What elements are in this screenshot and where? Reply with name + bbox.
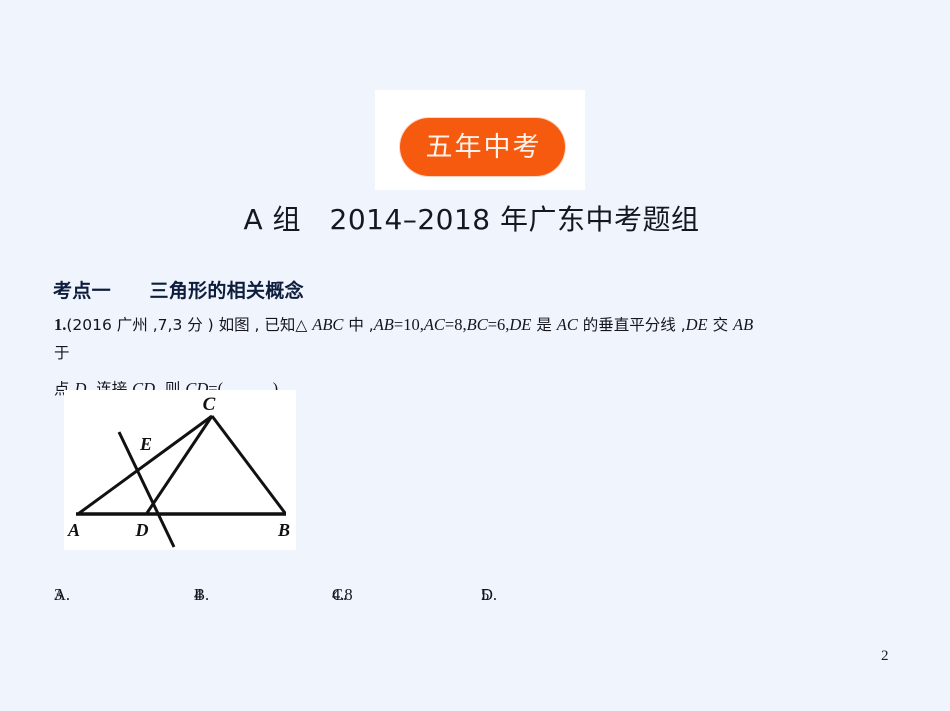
problem-mid-4: 交 [708,316,733,334]
math-ac-value: =8, [445,315,467,334]
figure-label-b: B [277,520,290,540]
option-d-value: 5 [481,585,489,605]
option-a-value: 3 [54,585,62,605]
problem-mid-3: 的垂直平分线 , [578,316,686,334]
figure-label-d: D [135,520,149,540]
figure-label-a: A [67,520,80,540]
option-b-value: 4 [194,585,202,605]
geometry-figure: C E A D B [64,390,296,550]
segment-cd [147,416,212,513]
math-ac: AC [424,315,445,334]
geometry-figure-svg: C E A D B [64,390,296,550]
slide-page: { "page": { "background_color": "#eff4fd… [0,0,950,711]
math-bc-value: =6, [488,315,510,334]
problem-number: 1. [54,315,66,334]
section-badge-pill: 五年中考 [400,118,565,176]
math-bc: BC [467,315,488,334]
option-c-value: 4.8 [332,585,353,605]
problem-source: (2016 广州 ,7,3 分 ) 如图 , 已知△ [66,316,312,334]
math-de-2: DE [686,315,708,334]
figure-label-e: E [139,434,152,454]
math-ac-2: AC [557,315,578,334]
problem-line-2: 于 [54,341,70,363]
page-number: 2 [881,648,889,665]
section-badge-label: 五年中考 [424,134,542,161]
problem-line-2-text: 于 [54,344,70,362]
section-heading: 考点一 三角形的相关概念 [53,276,304,303]
problem-mid-2: 是 [531,316,556,334]
figure-label-c: C [203,394,216,415]
math-ab: AB [374,315,394,334]
math-ab-value: =10, [394,315,424,334]
math-abc: ABC [312,315,343,334]
segment-cb [212,416,285,513]
page-title: A 组 2014–2018 年广东中考题组 [0,198,950,238]
problem-mid-1: 中 , [343,316,373,334]
problem-line-1: 1.(2016 广州 ,7,3 分 ) 如图 , 已知△ ABC 中 ,AB=1… [54,313,753,335]
section-badge-box: 五年中考 [375,90,585,190]
math-de: DE [509,315,531,334]
segment-ac [78,416,212,514]
math-ab-2: AB [733,315,753,334]
